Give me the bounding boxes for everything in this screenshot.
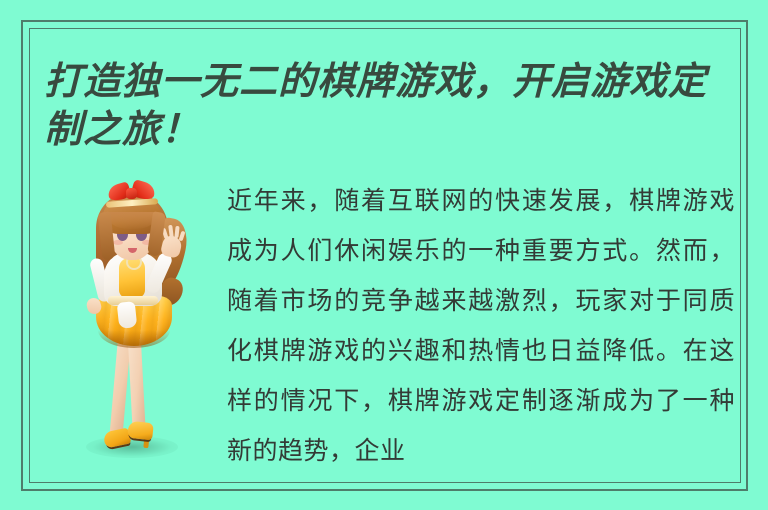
anime-girl-illustration — [56, 178, 206, 478]
skirt-hem-shadow — [98, 330, 170, 348]
shoe-right — [127, 421, 154, 441]
ground-shadow — [86, 436, 178, 458]
poster-canvas: 打造独一无二的棋牌游戏，开启游戏定制之旅！ — [0, 0, 768, 510]
page-title: 打造独一无二的棋牌游戏，开启游戏定制之旅！ — [44, 57, 734, 153]
hair-bow-knot — [126, 188, 137, 199]
waist-ribbon — [117, 301, 138, 329]
article-body-text: 近年来，随着互联网的快速发展，棋牌游戏成为人们休闲娱乐的一种重要方式。然而，随着… — [227, 176, 735, 476]
